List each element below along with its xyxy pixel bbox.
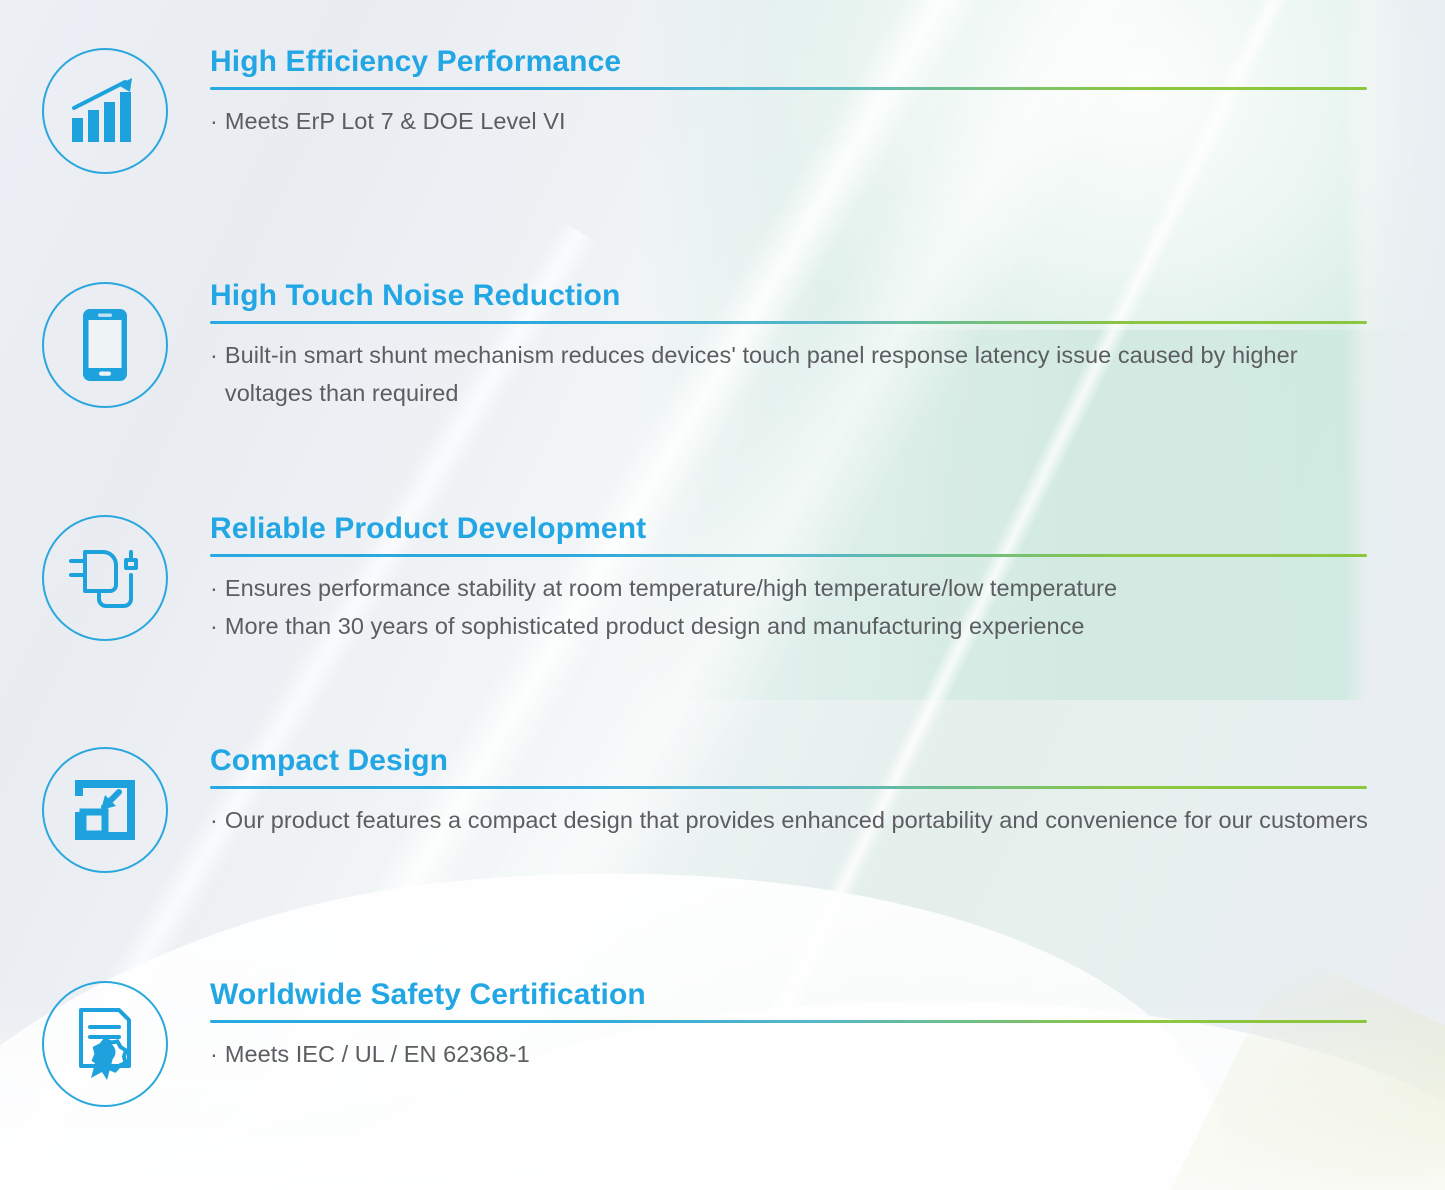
feature-bullet: · Meets ErP Lot 7 & DOE Level VI (210, 102, 1369, 140)
feature-body: High Touch Noise Reduction · Built-in sm… (210, 280, 1445, 413)
feature-title: Worldwide Safety Certification (210, 979, 1369, 1011)
feature-icon-wrap (0, 46, 210, 174)
bullet-marker: · (210, 102, 218, 140)
bullet-marker: · (210, 336, 218, 412)
feature-title: High Touch Noise Reduction (210, 280, 1369, 312)
bullet-marker: · (210, 607, 218, 645)
feature-item-high-efficiency-performance: High Efficiency Performance · Meets ErP … (0, 46, 1445, 174)
feature-bullets: · Ensures performance stability at room … (210, 569, 1369, 645)
bullet-marker: · (210, 569, 218, 607)
bullet-marker: · (210, 1035, 218, 1073)
bullet-text: Built-in smart shunt mechanism reduces d… (225, 336, 1369, 412)
feature-bullets: · Meets ErP Lot 7 & DOE Level VI (210, 102, 1369, 140)
smartphone-icon (42, 282, 168, 408)
feature-bullet: · Our product features a compact design … (210, 801, 1369, 839)
feature-bullet: · More than 30 years of sophisticated pr… (210, 607, 1369, 645)
bar-chart-growth-icon (42, 48, 168, 174)
feature-icon-wrap (0, 280, 210, 408)
feature-bullet: · Meets IEC / UL / EN 62368-1 (210, 1035, 1369, 1073)
bullet-text: Our product features a compact design th… (225, 801, 1369, 839)
compact-resize-icon (42, 747, 168, 873)
feature-title: Reliable Product Development (210, 513, 1369, 545)
bullet-text: Ensures performance stability at room te… (225, 569, 1369, 607)
feature-title: Compact Design (210, 745, 1369, 777)
feature-title: High Efficiency Performance (210, 46, 1369, 78)
feature-divider (210, 87, 1367, 90)
feature-divider (210, 554, 1367, 557)
feature-body: High Efficiency Performance · Meets ErP … (210, 46, 1445, 140)
bullet-text: More than 30 years of sophisticated prod… (225, 607, 1369, 645)
feature-bullet: · Built-in smart shunt mechanism reduces… (210, 336, 1369, 412)
certificate-seal-icon (42, 981, 168, 1107)
feature-bullets: · Meets IEC / UL / EN 62368-1 (210, 1035, 1369, 1073)
feature-body: Reliable Product Development · Ensures p… (210, 513, 1445, 646)
bullet-marker: · (210, 801, 218, 839)
power-adapter-icon (42, 515, 168, 641)
feature-bullet: · Ensures performance stability at room … (210, 569, 1369, 607)
bullet-text: Meets IEC / UL / EN 62368-1 (225, 1035, 1369, 1073)
feature-body: Worldwide Safety Certification · Meets I… (210, 979, 1445, 1073)
feature-item-reliable-product-development: Reliable Product Development · Ensures p… (0, 513, 1445, 646)
feature-bullets: · Built-in smart shunt mechanism reduces… (210, 336, 1369, 412)
feature-item-compact-design: Compact Design · Our product features a … (0, 745, 1445, 873)
feature-body: Compact Design · Our product features a … (210, 745, 1445, 839)
bullet-text: Meets ErP Lot 7 & DOE Level VI (225, 102, 1369, 140)
feature-divider (210, 321, 1367, 324)
feature-icon-wrap (0, 513, 210, 641)
feature-item-high-touch-noise-reduction: High Touch Noise Reduction · Built-in sm… (0, 280, 1445, 413)
feature-item-worldwide-safety-certification: Worldwide Safety Certification · Meets I… (0, 979, 1445, 1107)
feature-icon-wrap (0, 745, 210, 873)
feature-divider (210, 786, 1367, 789)
feature-icon-wrap (0, 979, 210, 1107)
feature-divider (210, 1020, 1367, 1023)
feature-bullets: · Our product features a compact design … (210, 801, 1369, 839)
